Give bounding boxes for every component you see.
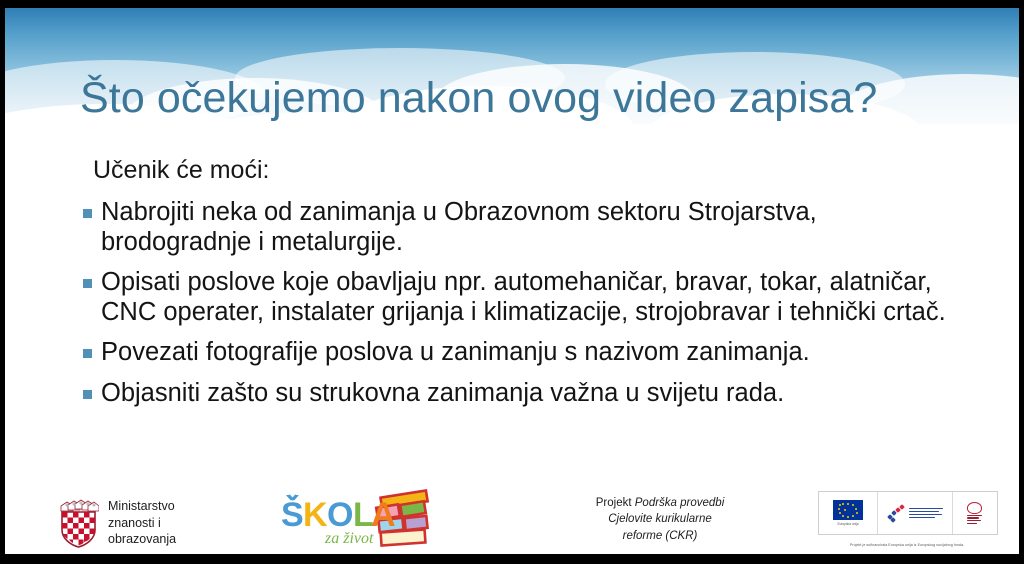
list-item: Opisati poslove koje obavljaju npr. auto… (83, 268, 973, 327)
eu-funding-banner: Europska unija (818, 491, 996, 547)
bullet-square-icon (83, 279, 92, 288)
croatian-coat-of-arms-icon (58, 499, 99, 548)
eu-flag-cell: Europska unija (819, 492, 878, 534)
list-item: Nabrojiti neka od zanimanja u Obrazovnom… (83, 198, 973, 257)
european-social-fund-icon (887, 503, 907, 523)
project-line-1: Projekt Podrška provedbi (560, 495, 760, 511)
project-caption: Projekt Podrška provedbi Cjelovite kurik… (560, 495, 760, 544)
ministry-line-1: Ministarstvo (108, 498, 176, 515)
objectives-list: Nabrojiti neka od zanimanja u Obrazovnom… (83, 198, 973, 419)
croatia-structural-funds-icon (965, 502, 983, 524)
slide-title: Što očekujemo nakon ovog video zapisa? (80, 76, 877, 122)
bullet-square-icon (83, 349, 92, 358)
svg-text:za život: za život (324, 530, 374, 547)
ministry-line-2: znanosti i (108, 515, 176, 532)
svg-text:K: K (303, 496, 328, 534)
bullet-square-icon (83, 209, 92, 218)
european-union-flag-icon (833, 500, 863, 520)
esf-cell (878, 492, 953, 534)
ministry-line-3: obrazovanja (108, 531, 176, 548)
svg-text:Š: Š (281, 495, 304, 534)
project-prefix: Projekt (596, 497, 635, 509)
structural-funds-cell (953, 492, 995, 534)
slide-footer: Ministarstvo znanosti i obrazovanja (5, 476, 1019, 554)
svg-text:O: O (327, 496, 353, 534)
ministry-logo: Ministarstvo znanosti i obrazovanja (58, 498, 176, 548)
eu-flag-caption: Europska unija (837, 522, 858, 526)
esf-wordmark (909, 508, 943, 519)
ministry-name: Ministarstvo znanosti i obrazovanja (108, 498, 176, 548)
project-line-2: Cjelovite kurikularne (560, 511, 760, 527)
list-item: Povezati fotografije poslova u zanimanju… (83, 338, 973, 368)
skola-za-zivot-icon: Š K O L A za život (277, 486, 447, 548)
list-item-text: Nabrojiti neka od zanimanja u Obrazovnom… (101, 198, 973, 257)
lead-text: Učenik će moći: (93, 156, 269, 185)
project-italic-2: Cjelovite kurikularne (608, 513, 712, 525)
project-italic-3: reforme (CKR) (623, 530, 698, 542)
bullet-square-icon (83, 390, 92, 399)
slide-canvas: Što očekujemo nakon ovog video zapisa? U… (5, 8, 1019, 554)
list-item-text: Povezati fotografije poslova u zanimanju… (101, 338, 810, 368)
list-item-text: Objasniti zašto su strukovna zanimanja v… (101, 379, 784, 409)
list-item-text: Opisati poslove koje obavljaju npr. auto… (101, 268, 973, 327)
list-item: Objasniti zašto su strukovna zanimanja v… (83, 379, 973, 409)
skola-za-zivot-logo: Š K O L A za život (277, 486, 447, 548)
project-italic-1: Podrška provedbi (635, 497, 725, 509)
eu-banner-caption: Projekt je sufinancirala Europska unija … (818, 543, 996, 547)
eu-banner-card: Europska unija (818, 491, 998, 535)
presentation-slide-frame: Što očekujemo nakon ovog video zapisa? U… (0, 0, 1024, 564)
svg-text:A: A (371, 496, 396, 534)
project-line-3: reforme (CKR) (560, 528, 760, 544)
